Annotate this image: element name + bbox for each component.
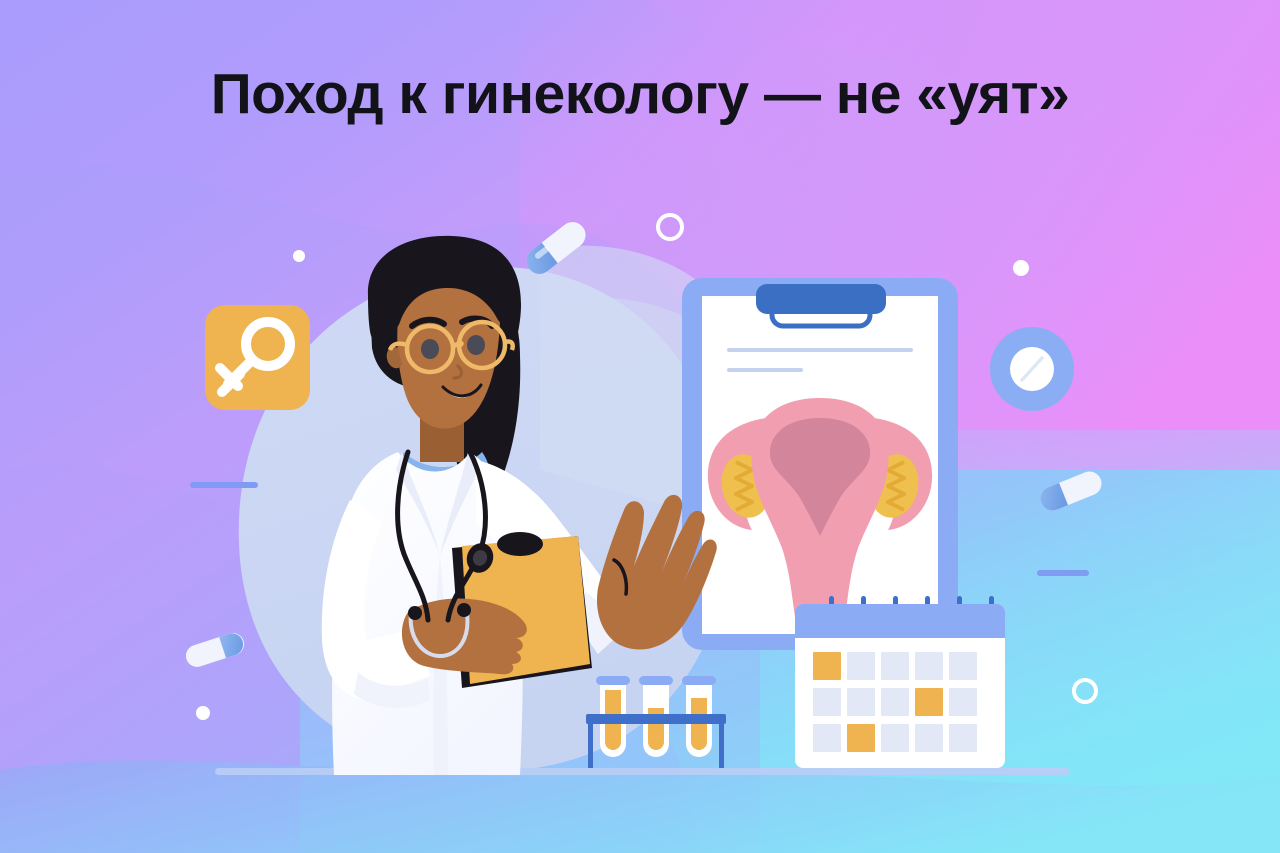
eye-left bbox=[421, 339, 439, 359]
page-title: Поход к гинекологу — не «уят» bbox=[0, 62, 1280, 128]
calendar-grid bbox=[813, 652, 977, 752]
illustration-canvas bbox=[0, 0, 1280, 853]
dash-decor-right bbox=[1037, 570, 1089, 576]
pill-tablet-badge[interactable] bbox=[990, 327, 1074, 411]
test-tube-rack[interactable] bbox=[586, 676, 726, 768]
dot-decor-upper-left bbox=[293, 250, 305, 262]
stethoscope-ear-left bbox=[408, 606, 422, 620]
stethoscope-ear-right bbox=[457, 603, 471, 617]
calendar-header bbox=[795, 604, 1005, 638]
wall-calendar[interactable] bbox=[795, 596, 1005, 768]
dash-decor-left bbox=[190, 482, 258, 488]
eye-right bbox=[467, 335, 485, 355]
poster-canvas: Поход к гинекологу — не «уят» bbox=[0, 0, 1280, 853]
dot-decor-upper-right bbox=[1013, 260, 1029, 276]
dot-decor-lower-left bbox=[196, 706, 210, 720]
female-gender-symbol-badge[interactable] bbox=[205, 305, 310, 410]
clipboard-clip-held bbox=[497, 532, 543, 556]
